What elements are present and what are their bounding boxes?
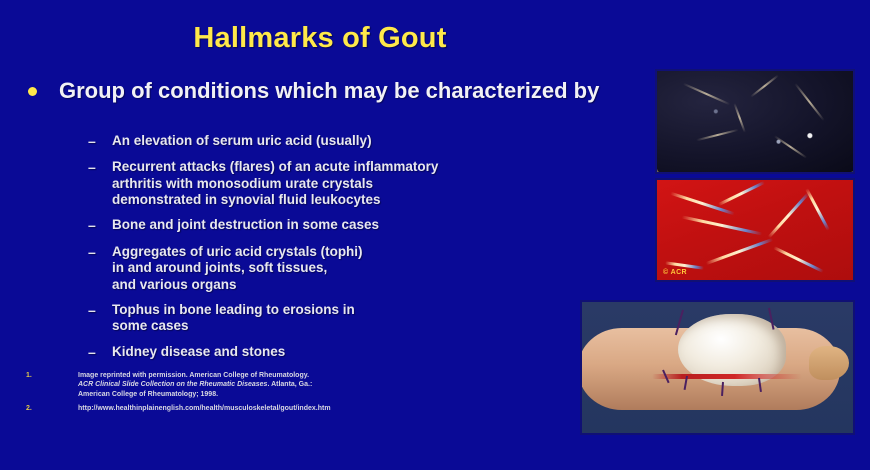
footnote-line-3: American College of Rheumatology; 1998. — [78, 391, 218, 398]
footnote-source-title: ACR Clinical Slide Collection on the Rhe… — [78, 381, 267, 388]
dash-marker-icon: – — [88, 344, 112, 361]
sub-bullet-item: – Tophus in bone leading to erosions in … — [88, 302, 618, 335]
sub-bullet-item: – Bone and joint destruction in some cas… — [88, 217, 618, 234]
footnote-line-2-rest: . Atlanta, Ga.: — [267, 381, 312, 388]
footnote-item: 2. http://www.healthinplainenglish.com/h… — [26, 404, 546, 413]
dash-marker-icon: – — [88, 244, 112, 261]
main-bullet-text: Group of conditions which may be charact… — [59, 78, 599, 103]
sub-bullet-item: – An elevation of serum uric acid (usual… — [88, 133, 618, 150]
presentation-slide: Hallmarks of Gout Group of conditions wh… — [0, 0, 870, 470]
urate-crystal — [768, 193, 810, 239]
dash-marker-icon: – — [88, 302, 112, 319]
sub-bullet-text: Tophus in bone leading to erosions in so… — [112, 302, 355, 335]
sub-bullet-text: Kidney disease and stones — [112, 344, 285, 360]
slide-title: Hallmarks of Gout — [0, 22, 640, 55]
urate-crystal — [805, 188, 830, 231]
crystal-streak — [682, 83, 729, 106]
dash-marker-icon: – — [88, 217, 112, 234]
footnote-line-1: Image reprinted with permission. America… — [78, 372, 309, 379]
footnote-number: 1. — [26, 371, 78, 380]
bullet-dot-icon — [28, 87, 37, 96]
urate-crystal — [681, 215, 762, 235]
footnote-item: 1. Image reprinted with permission. Amer… — [26, 371, 546, 399]
crystal-streak — [795, 83, 826, 121]
urate-crystal — [718, 181, 765, 206]
footnote-text: Image reprinted with permission. America… — [78, 371, 312, 399]
footnote-number: 2. — [26, 404, 78, 413]
crystal-streak — [750, 74, 779, 97]
urate-crystal — [773, 246, 824, 273]
footnote-list: 1. Image reprinted with permission. Amer… — [26, 371, 546, 419]
surgical-incision — [652, 374, 802, 379]
crystal-streak — [773, 135, 807, 159]
urate-crystal — [706, 238, 773, 265]
dash-marker-icon: – — [88, 133, 112, 150]
sub-bullet-item: – Aggregates of uric acid crystals (toph… — [88, 244, 618, 293]
sub-bullet-text: Recurrent attacks (flares) of an acute i… — [112, 159, 438, 208]
tophus-surgical-photo-image — [580, 300, 855, 435]
sub-bullet-text: An elevation of serum uric acid (usually… — [112, 133, 372, 149]
acr-watermark: © ACR — [663, 269, 687, 276]
crystal-streak — [697, 128, 739, 140]
fingertip — [809, 346, 849, 380]
footnote-url: http://www.healthinplainenglish.com/heal… — [78, 404, 331, 413]
sub-bullet-text: Aggregates of uric acid crystals (tophi)… — [112, 244, 363, 293]
darkfield-microscopy-image — [655, 69, 855, 174]
main-bullet-item: Group of conditions which may be charact… — [28, 78, 628, 103]
dash-marker-icon: – — [88, 159, 112, 176]
sub-bullet-text: Bone and joint destruction in some cases — [112, 217, 379, 233]
sub-bullet-item: – Recurrent attacks (flares) of an acute… — [88, 159, 618, 208]
polarized-light-crystals-image: © ACR — [655, 178, 855, 282]
urate-crystal — [670, 192, 734, 215]
sub-bullet-list: – An elevation of serum uric acid (usual… — [88, 133, 618, 370]
sub-bullet-item: – Kidney disease and stones — [88, 344, 618, 361]
